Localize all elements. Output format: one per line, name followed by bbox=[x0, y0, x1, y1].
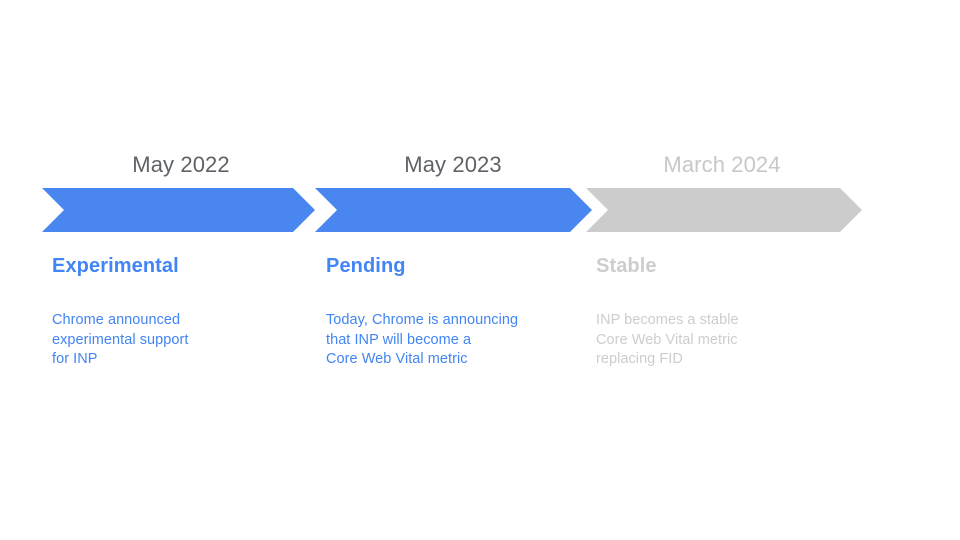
stage-title-pending: Pending bbox=[326, 253, 406, 279]
stage-body-line: Core Web Vital metric bbox=[596, 331, 739, 351]
stage-body-pending: Today, Chrome is announcing that INP wil… bbox=[326, 311, 518, 370]
stage-body-line: INP becomes a stable bbox=[596, 311, 739, 331]
stage-body-line: for INP bbox=[52, 350, 188, 370]
stage-body-line: Core Web Vital metric bbox=[326, 350, 518, 370]
stage-title-experimental: Experimental bbox=[52, 253, 179, 279]
timeline-diagram: May 2022 May 2023 March 2024 Experimenta… bbox=[0, 0, 960, 540]
stage-body-line: Today, Chrome is announcing bbox=[326, 311, 518, 331]
timeline-text-columns: Experimental Chrome announced experiment… bbox=[0, 0, 960, 540]
stage-body-line: experimental support bbox=[52, 331, 188, 351]
stage-body-experimental: Chrome announced experimental support fo… bbox=[52, 311, 188, 370]
stage-body-line: Chrome announced bbox=[52, 311, 188, 331]
stage-title-stable: Stable bbox=[596, 253, 657, 279]
stage-body-line: replacing FID bbox=[596, 350, 739, 370]
stage-body-stable: INP becomes a stable Core Web Vital metr… bbox=[596, 311, 739, 370]
stage-body-line: that INP will become a bbox=[326, 331, 518, 351]
